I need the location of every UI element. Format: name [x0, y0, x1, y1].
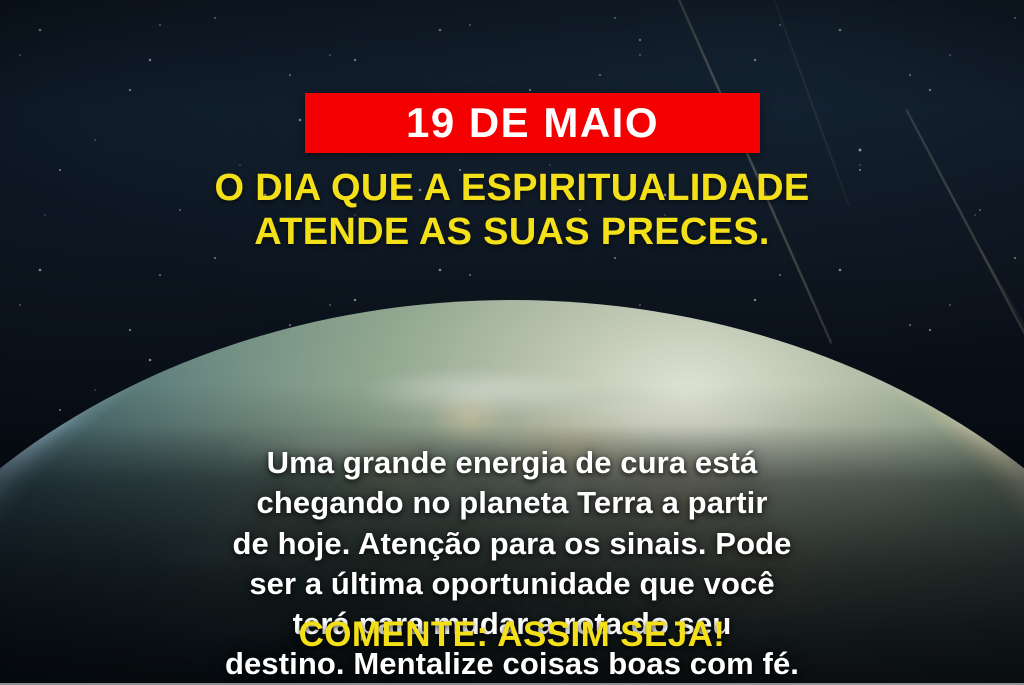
- body-line: de hoje. Atenção para os sinais. Pode: [50, 524, 974, 564]
- body-line: ser a última oportunidade que você: [50, 564, 974, 604]
- headline-line-2: ATENDE AS SUAS PRECES.: [40, 210, 984, 254]
- headline: O DIA QUE A ESPIRITUALIDADE ATENDE AS SU…: [0, 166, 1024, 254]
- poster: 19 DE MAIO O DIA QUE A ESPIRITUALIDADE A…: [0, 0, 1024, 685]
- headline-line-1: O DIA QUE A ESPIRITUALIDADE: [214, 167, 809, 209]
- poster-content: 19 DE MAIO O DIA QUE A ESPIRITUALIDADE A…: [0, 0, 1024, 685]
- body-line: Uma grande energia de cura está: [50, 443, 974, 483]
- call-to-action: COMENTE: ASSIM SEJA!: [0, 615, 1024, 655]
- date-banner-label: 19 DE MAIO: [406, 102, 659, 144]
- body-line: chegando no planeta Terra a partir: [50, 483, 974, 523]
- date-banner: 19 DE MAIO: [305, 93, 760, 153]
